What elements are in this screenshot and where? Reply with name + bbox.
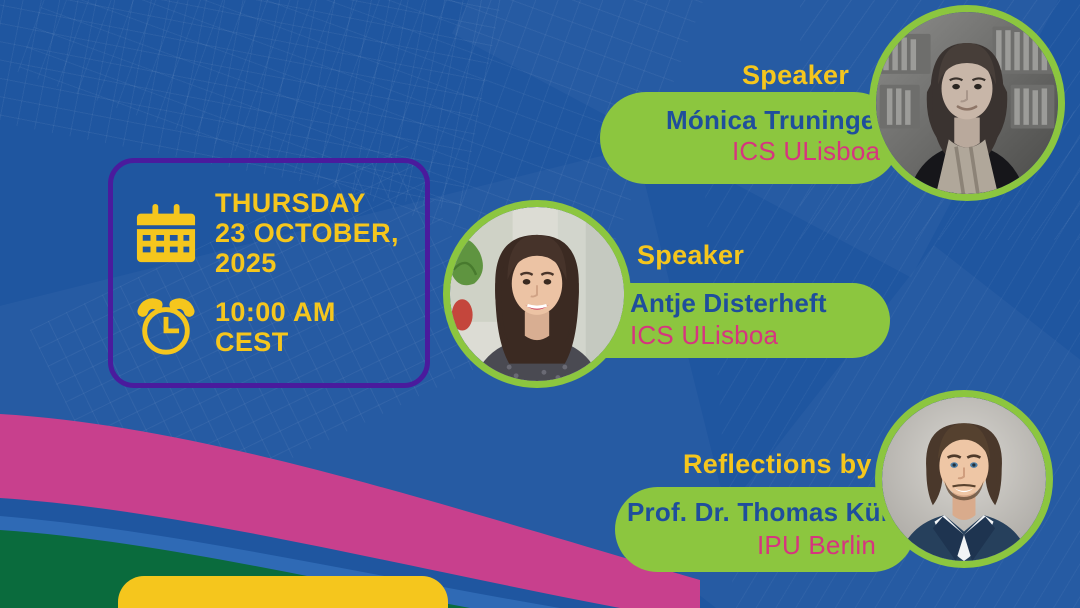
photo-monica-truninger bbox=[869, 5, 1065, 201]
day-label: THURSDAY bbox=[215, 188, 366, 218]
speaker-affiliation-3: IPU Berlin bbox=[757, 530, 876, 561]
speaker-name-1: Mónica Truninger bbox=[666, 105, 886, 136]
time-line-2: CEST bbox=[215, 327, 289, 357]
event-poster: THURSDAY 23 OCTOBER, 2025 10:00 AM CEST … bbox=[0, 0, 1080, 608]
speaker-role-3: Reflections by bbox=[683, 449, 872, 480]
speaker-role-1: Speaker bbox=[742, 60, 849, 91]
date-time-box: THURSDAY 23 OCTOBER, 2025 10:00 AM CEST bbox=[108, 158, 430, 388]
time-text: 10:00 AM CEST bbox=[215, 297, 336, 357]
speaker-name-3: Prof. Dr. Thomas Kühn bbox=[627, 497, 913, 528]
time-line-1: 10:00 AM bbox=[215, 297, 336, 327]
speaker-name-2: Antje Disterheft bbox=[630, 288, 827, 319]
ribbon-yellow-tab bbox=[118, 576, 448, 608]
photo-thomas-kuehn bbox=[875, 390, 1053, 568]
calendar-icon bbox=[135, 202, 197, 264]
date-line-1: 23 OCTOBER, bbox=[215, 218, 399, 248]
date-text: THURSDAY 23 OCTOBER, 2025 bbox=[215, 188, 399, 279]
date-line-2: 2025 bbox=[215, 248, 277, 278]
speaker-role-2: Speaker bbox=[637, 240, 744, 271]
time-row: 10:00 AM CEST bbox=[135, 296, 411, 358]
speaker-affiliation-1: ICS ULisboa bbox=[732, 136, 880, 167]
speaker-affiliation-2: ICS ULisboa bbox=[630, 320, 778, 351]
photo-antje-disterheft bbox=[443, 200, 631, 388]
date-row: THURSDAY 23 OCTOBER, 2025 bbox=[135, 188, 411, 279]
alarm-clock-icon bbox=[135, 296, 197, 358]
